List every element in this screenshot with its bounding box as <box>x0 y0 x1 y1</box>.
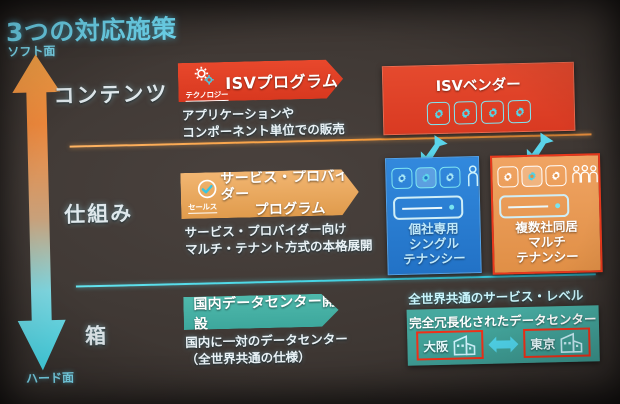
technology-badge: テクノロジー <box>184 65 225 92</box>
single-tenancy-label: 個社専用 シングル テナンシー <box>387 220 480 268</box>
note-line-2: マルチ・テナント方式の本格展開 <box>185 237 373 259</box>
row-label-box: 箱 <box>85 320 109 351</box>
note-line-2: コンポーネント単位での販売 <box>182 120 345 141</box>
datacenter-osaka[interactable]: 大阪 <box>416 330 484 361</box>
box-isv-vendor[interactable]: ISVベンダー <box>382 62 576 136</box>
factory-icon <box>451 333 478 357</box>
note-service-provider: サービス・プロバイダー向け マルチ・テナント方式の本格展開 <box>184 220 372 259</box>
note-line-2: （全世界共通の仕様） <box>185 347 348 368</box>
server-bar-line <box>402 206 442 209</box>
gear-icon <box>545 165 566 186</box>
gear-icon <box>415 167 436 188</box>
multi-tenancy-label: 複数社同居 マルチ テナンシー <box>493 218 600 266</box>
gear-icon <box>391 168 412 189</box>
check-circle-icon <box>196 178 217 199</box>
banner-service-provider-label: サービス・プロバイダー プログラム <box>220 168 359 220</box>
gear-icon <box>508 100 532 124</box>
box-multi-tenancy[interactable]: 複数社同居 マルチ テナンシー <box>490 153 603 275</box>
row-label-mechanism: 仕組み <box>64 197 134 229</box>
gear-icon <box>439 166 460 187</box>
note-isv-program: アプリケーションや コンポーネント単位での販売 <box>182 103 345 141</box>
service-level-text: 全世界共通のサービス・レベル <box>408 285 583 308</box>
technology-badge-label: テクノロジー <box>185 89 228 102</box>
note-domestic-datacenter: 国内に一対のデータセンター （全世界共通の仕様） <box>185 330 348 368</box>
label-line-3: テナンシー <box>494 248 600 266</box>
banner-domestic-datacenter[interactable]: 国内データセンター開設 <box>183 293 339 330</box>
gear-icon <box>521 166 542 187</box>
gear-icon <box>481 100 505 124</box>
box-redundant-datacenter[interactable]: 完全冗長化されたデータセンター 大阪 東京 <box>407 305 600 366</box>
banner-isv-program-label: ISVプログラム <box>225 67 339 94</box>
datacenter-tokyo-label: 東京 <box>530 333 555 353</box>
server-status-dot <box>449 205 454 210</box>
people-group-icon <box>571 163 599 186</box>
datacenter-tokyo[interactable]: 東京 <box>523 327 591 358</box>
gear-icon <box>192 65 217 88</box>
datacenter-pair: 大阪 東京 <box>407 327 600 361</box>
slide-photo: 3つの対応施策 ソフト面 ハード面 コンテンツ 仕組み 箱 <box>0 0 620 404</box>
banner-domestic-datacenter-label: 国内データセンター開設 <box>193 290 339 333</box>
server-icon <box>499 194 570 219</box>
gear-icon <box>427 102 451 126</box>
banner-line-2: プログラム <box>221 200 359 219</box>
banner-service-provider-program[interactable]: セールス サービス・プロバイダー プログラム <box>180 169 359 219</box>
sales-badge-label: セールス <box>188 201 217 214</box>
factory-icon <box>558 331 585 355</box>
row-label-contents: コンテンツ <box>53 77 169 110</box>
person-icon <box>466 165 480 187</box>
server-bar-line <box>508 205 548 208</box>
double-arrow-icon <box>488 335 518 354</box>
multi-tenancy-gear-row <box>492 164 603 188</box>
box-isv-vendor-title: ISVベンダー <box>383 72 573 97</box>
isv-vendor-gear-row <box>384 99 574 126</box>
projected-slide: 3つの対応施策 ソフト面 ハード面 コンテンツ 仕組み 箱 <box>0 0 620 404</box>
server-icon <box>393 195 464 220</box>
datacenter-osaka-label: 大阪 <box>423 336 448 356</box>
banner-line-1: サービス・プロバイダー <box>220 168 359 204</box>
box-single-tenancy[interactable]: 個社専用 シングル テナンシー <box>385 156 482 275</box>
sales-badge: セールス <box>186 178 227 204</box>
banner-isv-program[interactable]: テクノロジー ISVプログラム <box>178 59 344 102</box>
label-line-3: テナンシー <box>388 250 480 267</box>
server-status-dot <box>555 203 560 208</box>
gear-icon <box>454 101 478 125</box>
single-tenancy-gear-row <box>386 166 483 189</box>
gear-icon <box>497 166 518 187</box>
